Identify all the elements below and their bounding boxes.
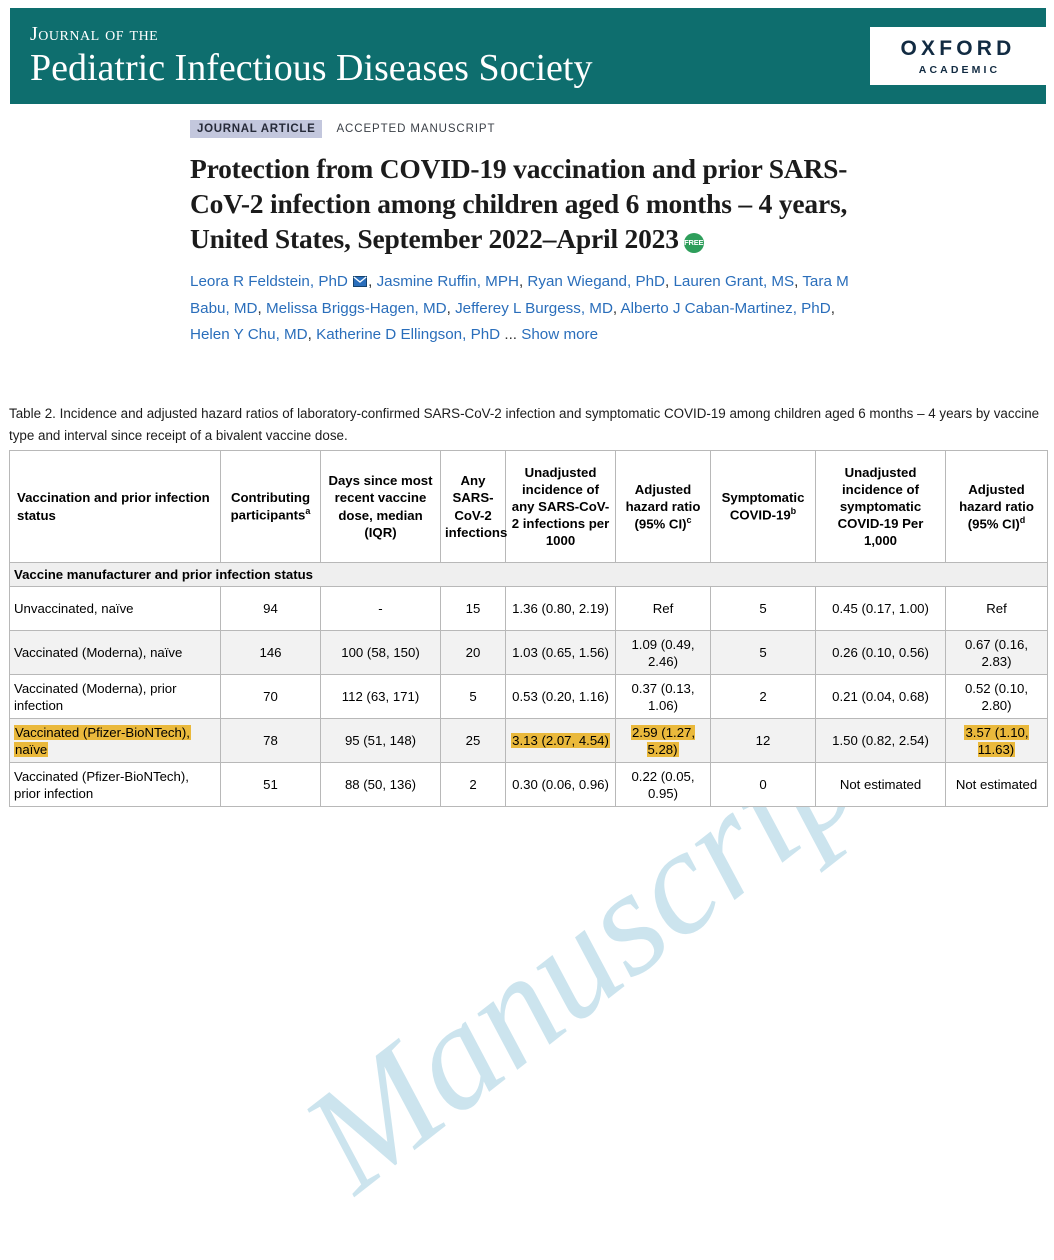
table-cell-any-infections: 20: [441, 631, 506, 675]
author-ellipsis: ...: [500, 326, 521, 343]
table-cell-label: Vaccinated (Moderna), naïve: [10, 631, 221, 675]
table-row: Vaccinated (Moderna), naïve146100 (58, 1…: [10, 631, 1048, 675]
free-badge: FREE: [684, 233, 704, 253]
column-header: Days since most recent vaccine dose, med…: [321, 451, 441, 563]
table-cell-unadj-incidence-any: 0.53 (0.20, 1.16): [506, 675, 616, 719]
table-cell-unadj-incidence-any: 3.13 (2.07, 4.54): [506, 719, 616, 763]
table-cell-ahr-any: Ref: [616, 587, 711, 631]
column-header-label: Unadjusted incidence of symptomatic COVI…: [838, 465, 924, 549]
author-separator: ,: [308, 326, 316, 343]
table-cell-unadj-incidence-symp: 0.26 (0.10, 0.56): [816, 631, 946, 675]
author-separator: ,: [831, 300, 835, 317]
oxford-academic-logo[interactable]: OXFORD ACADEMIC: [870, 27, 1046, 85]
table-cell-unadj-incidence-symp: 0.45 (0.17, 1.00): [816, 587, 946, 631]
table-cell-participants: 51: [221, 763, 321, 807]
column-header: Adjusted hazard ratio (95% CI)d: [946, 451, 1048, 563]
table-cell-unadj-incidence-any: 1.36 (0.80, 2.19): [506, 587, 616, 631]
table-row: Vaccinated (Pfizer-BioNTech), prior infe…: [10, 763, 1048, 807]
author-list: Leora R Feldstein, PhD , Jasmine Ruffin,…: [190, 269, 870, 348]
show-more-link[interactable]: Show more: [521, 326, 598, 343]
table-cell-symptomatic: 12: [711, 719, 816, 763]
table-cell-unadj-incidence-symp: Not estimated: [816, 763, 946, 807]
column-header: Symptomatic COVID-19b: [711, 451, 816, 563]
table-cell-days-since: -: [321, 587, 441, 631]
highlighted-value: 2.59 (1.27, 5.28): [631, 725, 695, 757]
author-link[interactable]: Helen Y Chu, MD: [190, 326, 308, 343]
data-table-container: Manuscript Vaccination and prior infecti…: [9, 450, 1047, 807]
table-cell-ahr-symp: Not estimated: [946, 763, 1048, 807]
article-header: JOURNAL ARTICLE ACCEPTED MANUSCRIPT Prot…: [190, 120, 870, 348]
column-header: Contributing participantsa: [221, 451, 321, 563]
footnote-marker: c: [687, 515, 692, 525]
footnote-marker: b: [791, 506, 797, 516]
table-cell-ahr-any: 0.22 (0.05, 0.95): [616, 763, 711, 807]
table-cell-participants: 146: [221, 631, 321, 675]
highlighted-value: 3.13 (2.07, 4.54): [511, 733, 610, 748]
journal-article-tag[interactable]: JOURNAL ARTICLE: [190, 120, 322, 138]
table-cell-any-infections: 15: [441, 587, 506, 631]
journal-kicker: Journal of the: [30, 23, 592, 46]
column-header-label: Contributing participants: [231, 490, 310, 523]
table-body: Vaccine manufacturer and prior infection…: [10, 563, 1048, 807]
table-cell-ahr-symp: Ref: [946, 587, 1048, 631]
column-header: Unadjusted incidence of symptomatic COVI…: [816, 451, 946, 563]
table-cell-symptomatic: 2: [711, 675, 816, 719]
footnote-marker: a: [305, 506, 310, 516]
journal-masthead: Journal of the Pediatric Infectious Dise…: [10, 8, 1046, 104]
results-table: Vaccination and prior infection statusCo…: [9, 450, 1048, 807]
table-cell-ahr-symp: 0.67 (0.16, 2.83): [946, 631, 1048, 675]
author-separator: ,: [368, 273, 376, 290]
accepted-manuscript-tag: ACCEPTED MANUSCRIPT: [336, 123, 495, 135]
author-link[interactable]: Alberto J Caban-Martinez, PhD: [621, 300, 831, 317]
table-cell-participants: 70: [221, 675, 321, 719]
envelope-icon[interactable]: [353, 270, 367, 296]
article-tag-row: JOURNAL ARTICLE ACCEPTED MANUSCRIPT: [190, 120, 870, 138]
oxford-logo-main: OXFORD: [900, 37, 1015, 61]
column-header-label: Unadjusted incidence of any SARS-CoV-2 i…: [512, 465, 609, 549]
author-link[interactable]: Leora R Feldstein, PhD: [190, 273, 348, 290]
section-heading: Vaccine manufacturer and prior infection…: [10, 563, 1048, 587]
table-caption: Table 2. Incidence and adjusted hazard r…: [9, 403, 1047, 446]
table-cell-unadj-incidence-any: 0.30 (0.06, 0.96): [506, 763, 616, 807]
author-link[interactable]: Jefferey L Burgess, MD: [455, 300, 613, 317]
highlighted-value: Vaccinated (Pfizer-BioNTech), naïve: [14, 725, 191, 757]
author-link[interactable]: Melissa Briggs-Hagen, MD: [266, 300, 447, 317]
table-cell-label: Vaccinated (Pfizer-BioNTech), naïve: [10, 719, 221, 763]
table-cell-ahr-any: 2.59 (1.27, 5.28): [616, 719, 711, 763]
table-cell-participants: 94: [221, 587, 321, 631]
journal-title-block: Journal of the Pediatric Infectious Dise…: [10, 23, 592, 90]
table-cell-any-infections: 2: [441, 763, 506, 807]
author-separator: ,: [613, 300, 621, 317]
author-separator: ,: [447, 300, 455, 317]
column-header: Any SARS-CoV-2 infections: [441, 451, 506, 563]
table-cell-ahr-symp: 3.57 (1.10, 11.63): [946, 719, 1048, 763]
column-header-label: Vaccination and prior infection status: [17, 490, 210, 522]
footnote-marker: d: [1020, 515, 1026, 525]
journal-name: Pediatric Infectious Diseases Society: [30, 47, 592, 90]
table-cell-label: Vaccinated (Pfizer-BioNTech), prior infe…: [10, 763, 221, 807]
column-header-label: Days since most recent vaccine dose, med…: [328, 473, 432, 539]
table-header-row: Vaccination and prior infection statusCo…: [10, 451, 1048, 563]
author-link[interactable]: Lauren Grant, MS: [673, 273, 794, 290]
oxford-logo-sub: ACADEMIC: [916, 64, 1000, 76]
table-cell-symptomatic: 5: [711, 631, 816, 675]
highlighted-value: 3.57 (1.10, 11.63): [964, 725, 1028, 757]
table-cell-unadj-incidence-symp: 1.50 (0.82, 2.54): [816, 719, 946, 763]
table-cell-days-since: 112 (63, 171): [321, 675, 441, 719]
table-cell-symptomatic: 0: [711, 763, 816, 807]
table-cell-symptomatic: 5: [711, 587, 816, 631]
article-title-text: Protection from COVID-19 vaccination and…: [190, 153, 847, 254]
page-title: Protection from COVID-19 vaccination and…: [190, 151, 870, 257]
column-header-label: Any SARS-CoV-2 infections: [445, 473, 507, 539]
column-header: Adjusted hazard ratio (95% CI)c: [616, 451, 711, 563]
author-link[interactable]: Ryan Wiegand, PhD: [527, 273, 665, 290]
manuscript-watermark: Manuscript: [259, 880, 879, 1260]
table-cell-ahr-any: 0.37 (0.13, 1.06): [616, 675, 711, 719]
table-cell-label: Unvaccinated, naïve: [10, 587, 221, 631]
table-section-row: Vaccine manufacturer and prior infection…: [10, 563, 1048, 587]
table-cell-ahr-any: 1.09 (0.49, 2.46): [616, 631, 711, 675]
author-separator: ,: [258, 300, 266, 317]
column-header: Unadjusted incidence of any SARS-CoV-2 i…: [506, 451, 616, 563]
table-head: Vaccination and prior infection statusCo…: [10, 451, 1048, 563]
table-cell-unadj-incidence-any: 1.03 (0.65, 1.56): [506, 631, 616, 675]
table-row: Unvaccinated, naïve94-151.36 (0.80, 2.19…: [10, 587, 1048, 631]
table-cell-any-infections: 25: [441, 719, 506, 763]
author-link[interactable]: Katherine D Ellingson, PhD: [316, 326, 500, 343]
table-cell-ahr-symp: 0.52 (0.10, 2.80): [946, 675, 1048, 719]
table-cell-days-since: 100 (58, 150): [321, 631, 441, 675]
author-link[interactable]: Jasmine Ruffin, MPH: [377, 273, 519, 290]
table-row: Vaccinated (Pfizer-BioNTech), naïve7895 …: [10, 719, 1048, 763]
table-row: Vaccinated (Moderna), prior infection701…: [10, 675, 1048, 719]
table-cell-unadj-incidence-symp: 0.21 (0.04, 0.68): [816, 675, 946, 719]
table-cell-participants: 78: [221, 719, 321, 763]
table-cell-days-since: 88 (50, 136): [321, 763, 441, 807]
table-cell-any-infections: 5: [441, 675, 506, 719]
column-header: Vaccination and prior infection status: [10, 451, 221, 563]
table-cell-label: Vaccinated (Moderna), prior infection: [10, 675, 221, 719]
table-cell-days-since: 95 (51, 148): [321, 719, 441, 763]
